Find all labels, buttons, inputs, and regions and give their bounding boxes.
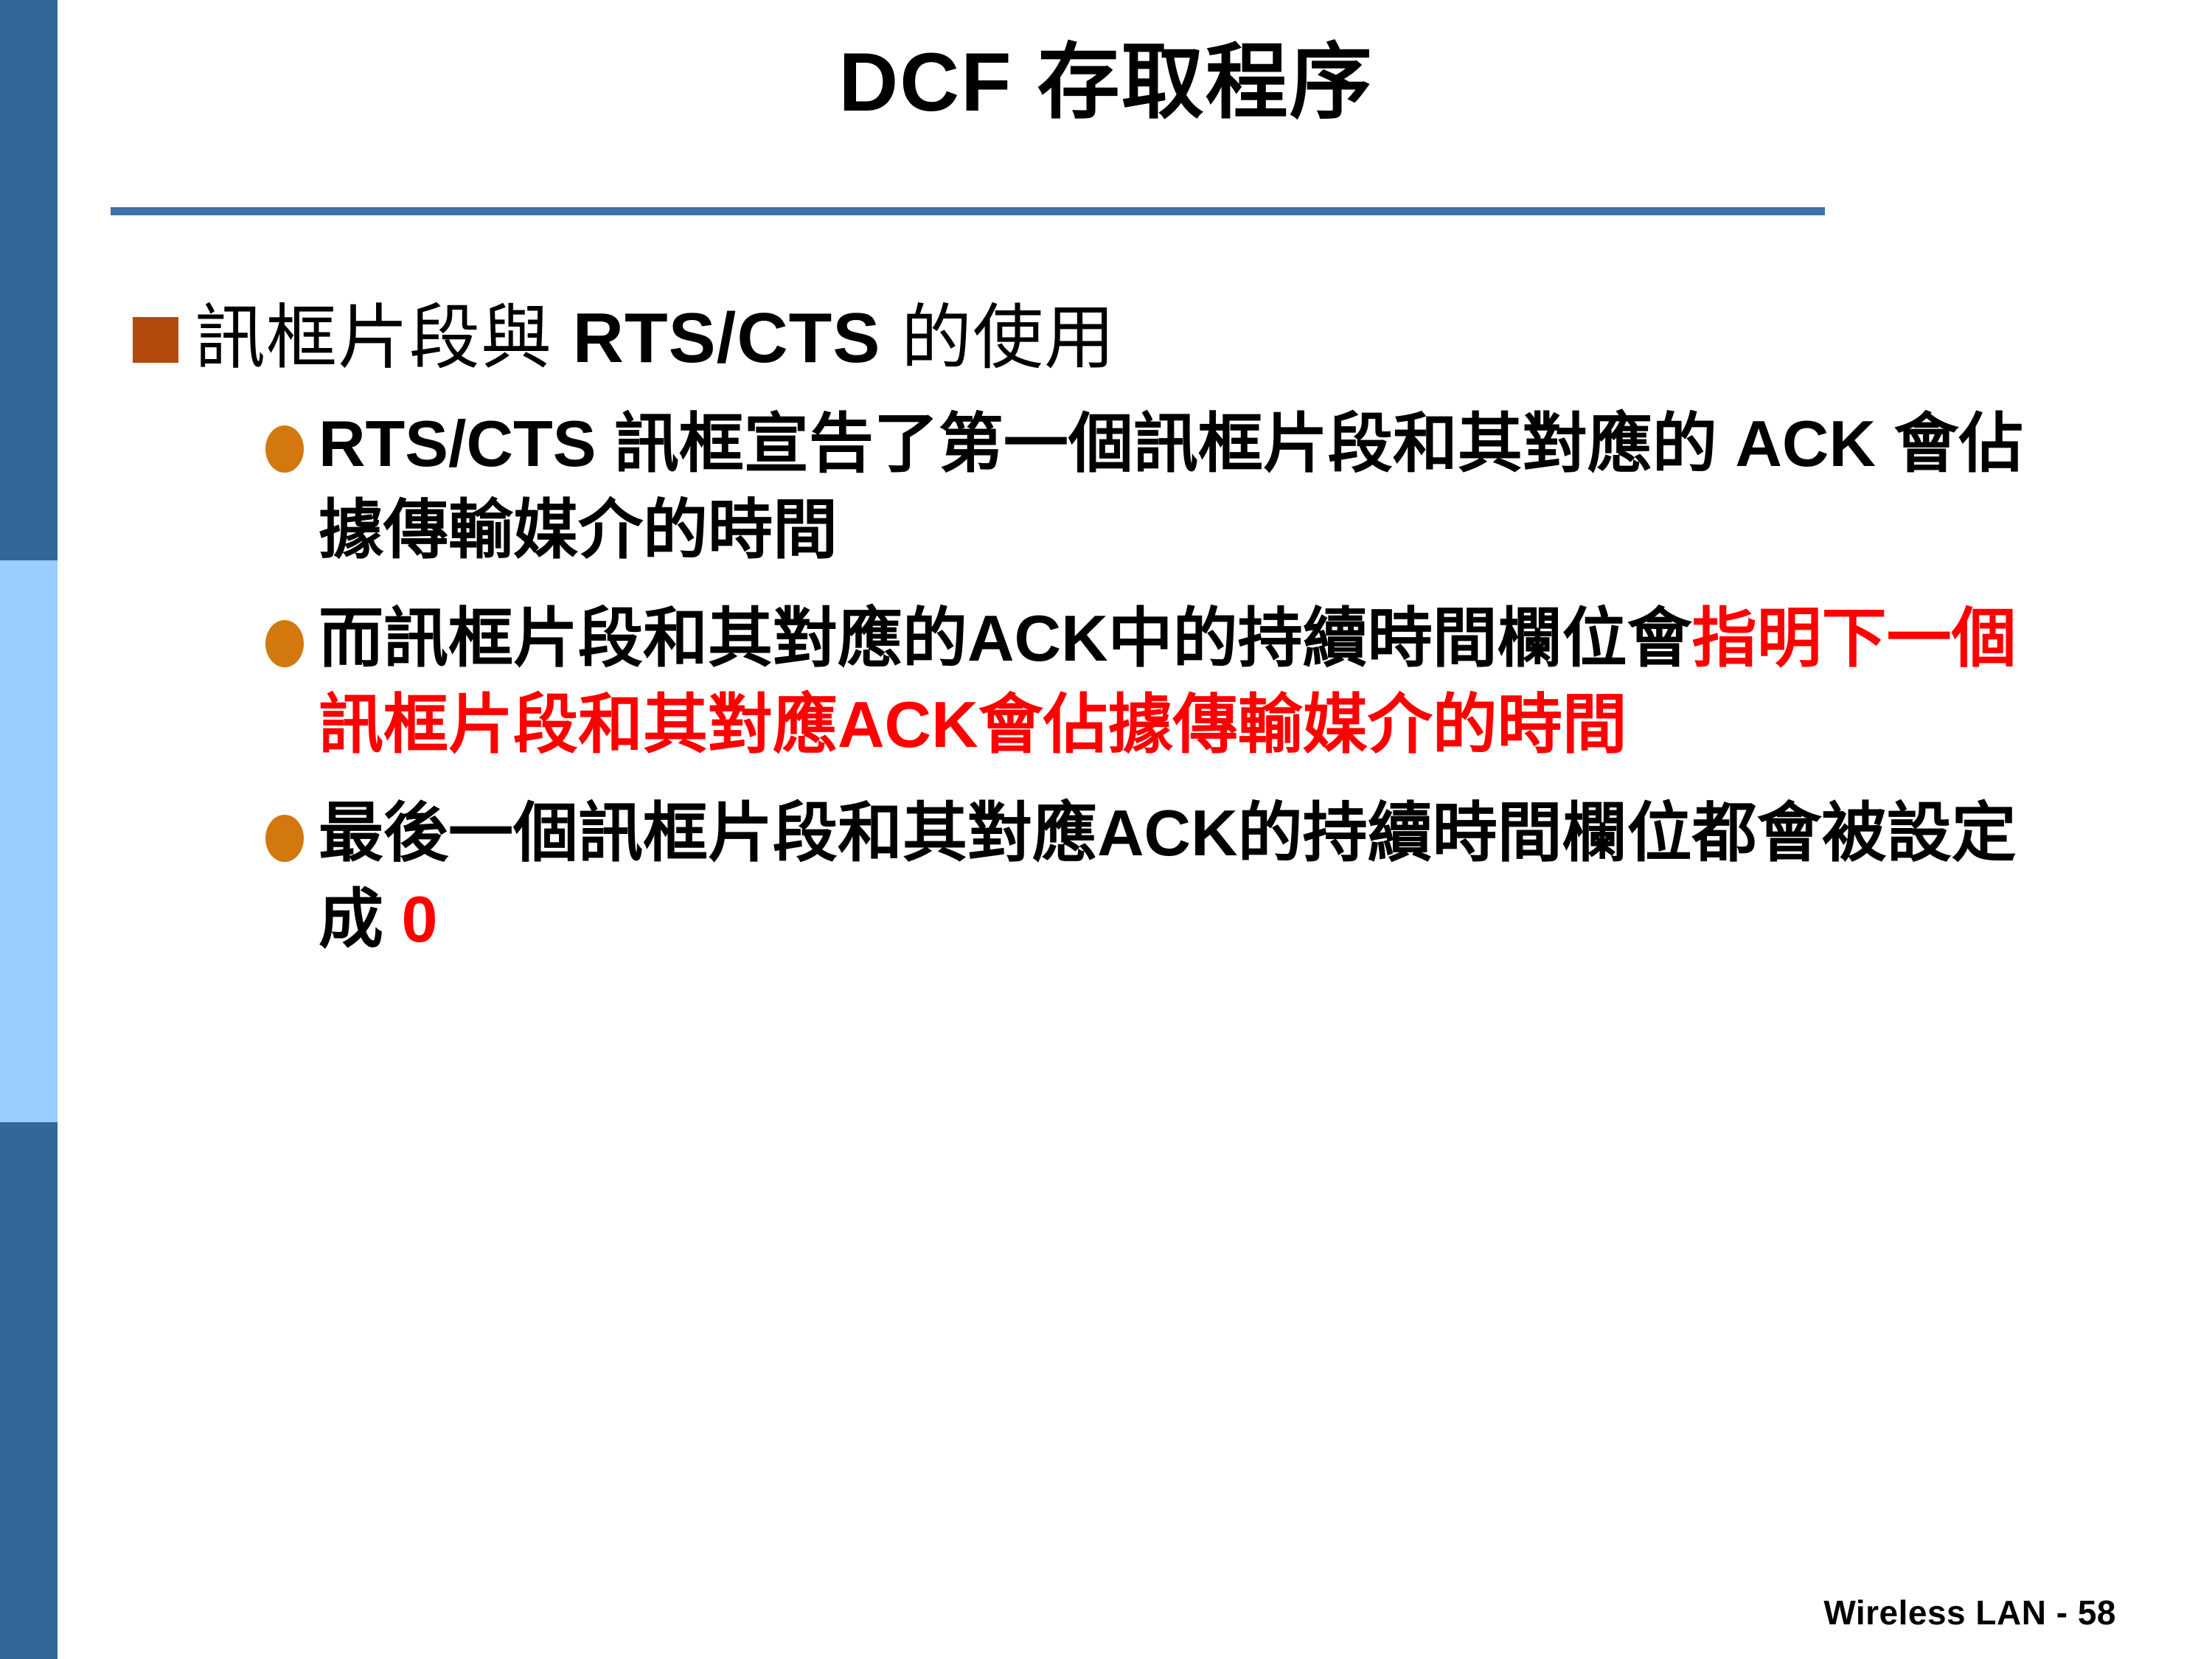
- bullet-level2-item-1: RTS/CTS 訊框宣告了第一個訊框片段和其對應的 ACK 會佔據傳輸媒介的時間: [265, 400, 2168, 573]
- accent-bar-segment-top: [0, 0, 58, 560]
- bullet-level2-text-2: 而訊框片段和其對應的ACK中的持續時間欄位會指明下一個訊框片段和其對應ACK會佔…: [319, 595, 2073, 768]
- round-bullet-icon: [265, 425, 304, 473]
- bullet-run-text: 最後一個訊框片段和其對應ACK的持續時間欄位都會被設定成: [319, 796, 2017, 956]
- title-divider-line: [111, 207, 1825, 215]
- bullet-level1-item: 訊框片段與 RTS/CTS 的使用: [133, 295, 2168, 381]
- bullet-run-text: 而訊框片段和其對應的ACK中的持續時間欄位會: [319, 602, 1692, 675]
- bullet-run-emphasis: RTS/CTS: [573, 299, 881, 378]
- bullet-run-text: RTS/CTS 訊框宣告了第一個訊框片段和其對應的 ACK 會佔據傳輸媒介的時間: [319, 407, 2023, 566]
- slide-footer: Wireless LAN - 58: [1823, 1593, 2116, 1632]
- square-bullet-icon: [133, 317, 178, 363]
- bullet-run-text: 訊框片段與: [195, 299, 573, 378]
- bullet-run-highlight: 0: [401, 883, 437, 956]
- bullet-level2-text-1: RTS/CTS 訊框宣告了第一個訊框片段和其對應的 ACK 會佔據傳輸媒介的時間: [319, 400, 2073, 573]
- left-accent-bar: [0, 0, 58, 1659]
- round-bullet-icon: [265, 620, 304, 667]
- round-bullet-icon: [265, 815, 304, 862]
- bullet-level2-item-3: 最後一個訊框片段和其對應ACK的持續時間欄位都會被設定成 0: [265, 790, 2168, 962]
- bullet-level2-text-3: 最後一個訊框片段和其對應ACK的持續時間欄位都會被設定成 0: [319, 790, 2073, 962]
- bullet-level2-item-2: 而訊框片段和其對應的ACK中的持續時間欄位會指明下一個訊框片段和其對應ACK會佔…: [265, 595, 2168, 768]
- slide-title: DCF 存取程序: [111, 35, 2101, 131]
- slide-body: 訊框片段與 RTS/CTS 的使用 RTS/CTS 訊框宣告了第一個訊框片段和其…: [133, 295, 2168, 984]
- accent-bar-segment-bottom: [0, 1122, 58, 1659]
- accent-bar-segment-middle: [0, 560, 58, 1122]
- bullet-level1-text: 訊框片段與 RTS/CTS 的使用: [195, 295, 1116, 381]
- slide-canvas: DCF 存取程序 訊框片段與 RTS/CTS 的使用 RTS/CTS 訊框宣告了…: [0, 0, 2212, 1659]
- bullet-run-text-tail: 的使用: [880, 299, 1116, 378]
